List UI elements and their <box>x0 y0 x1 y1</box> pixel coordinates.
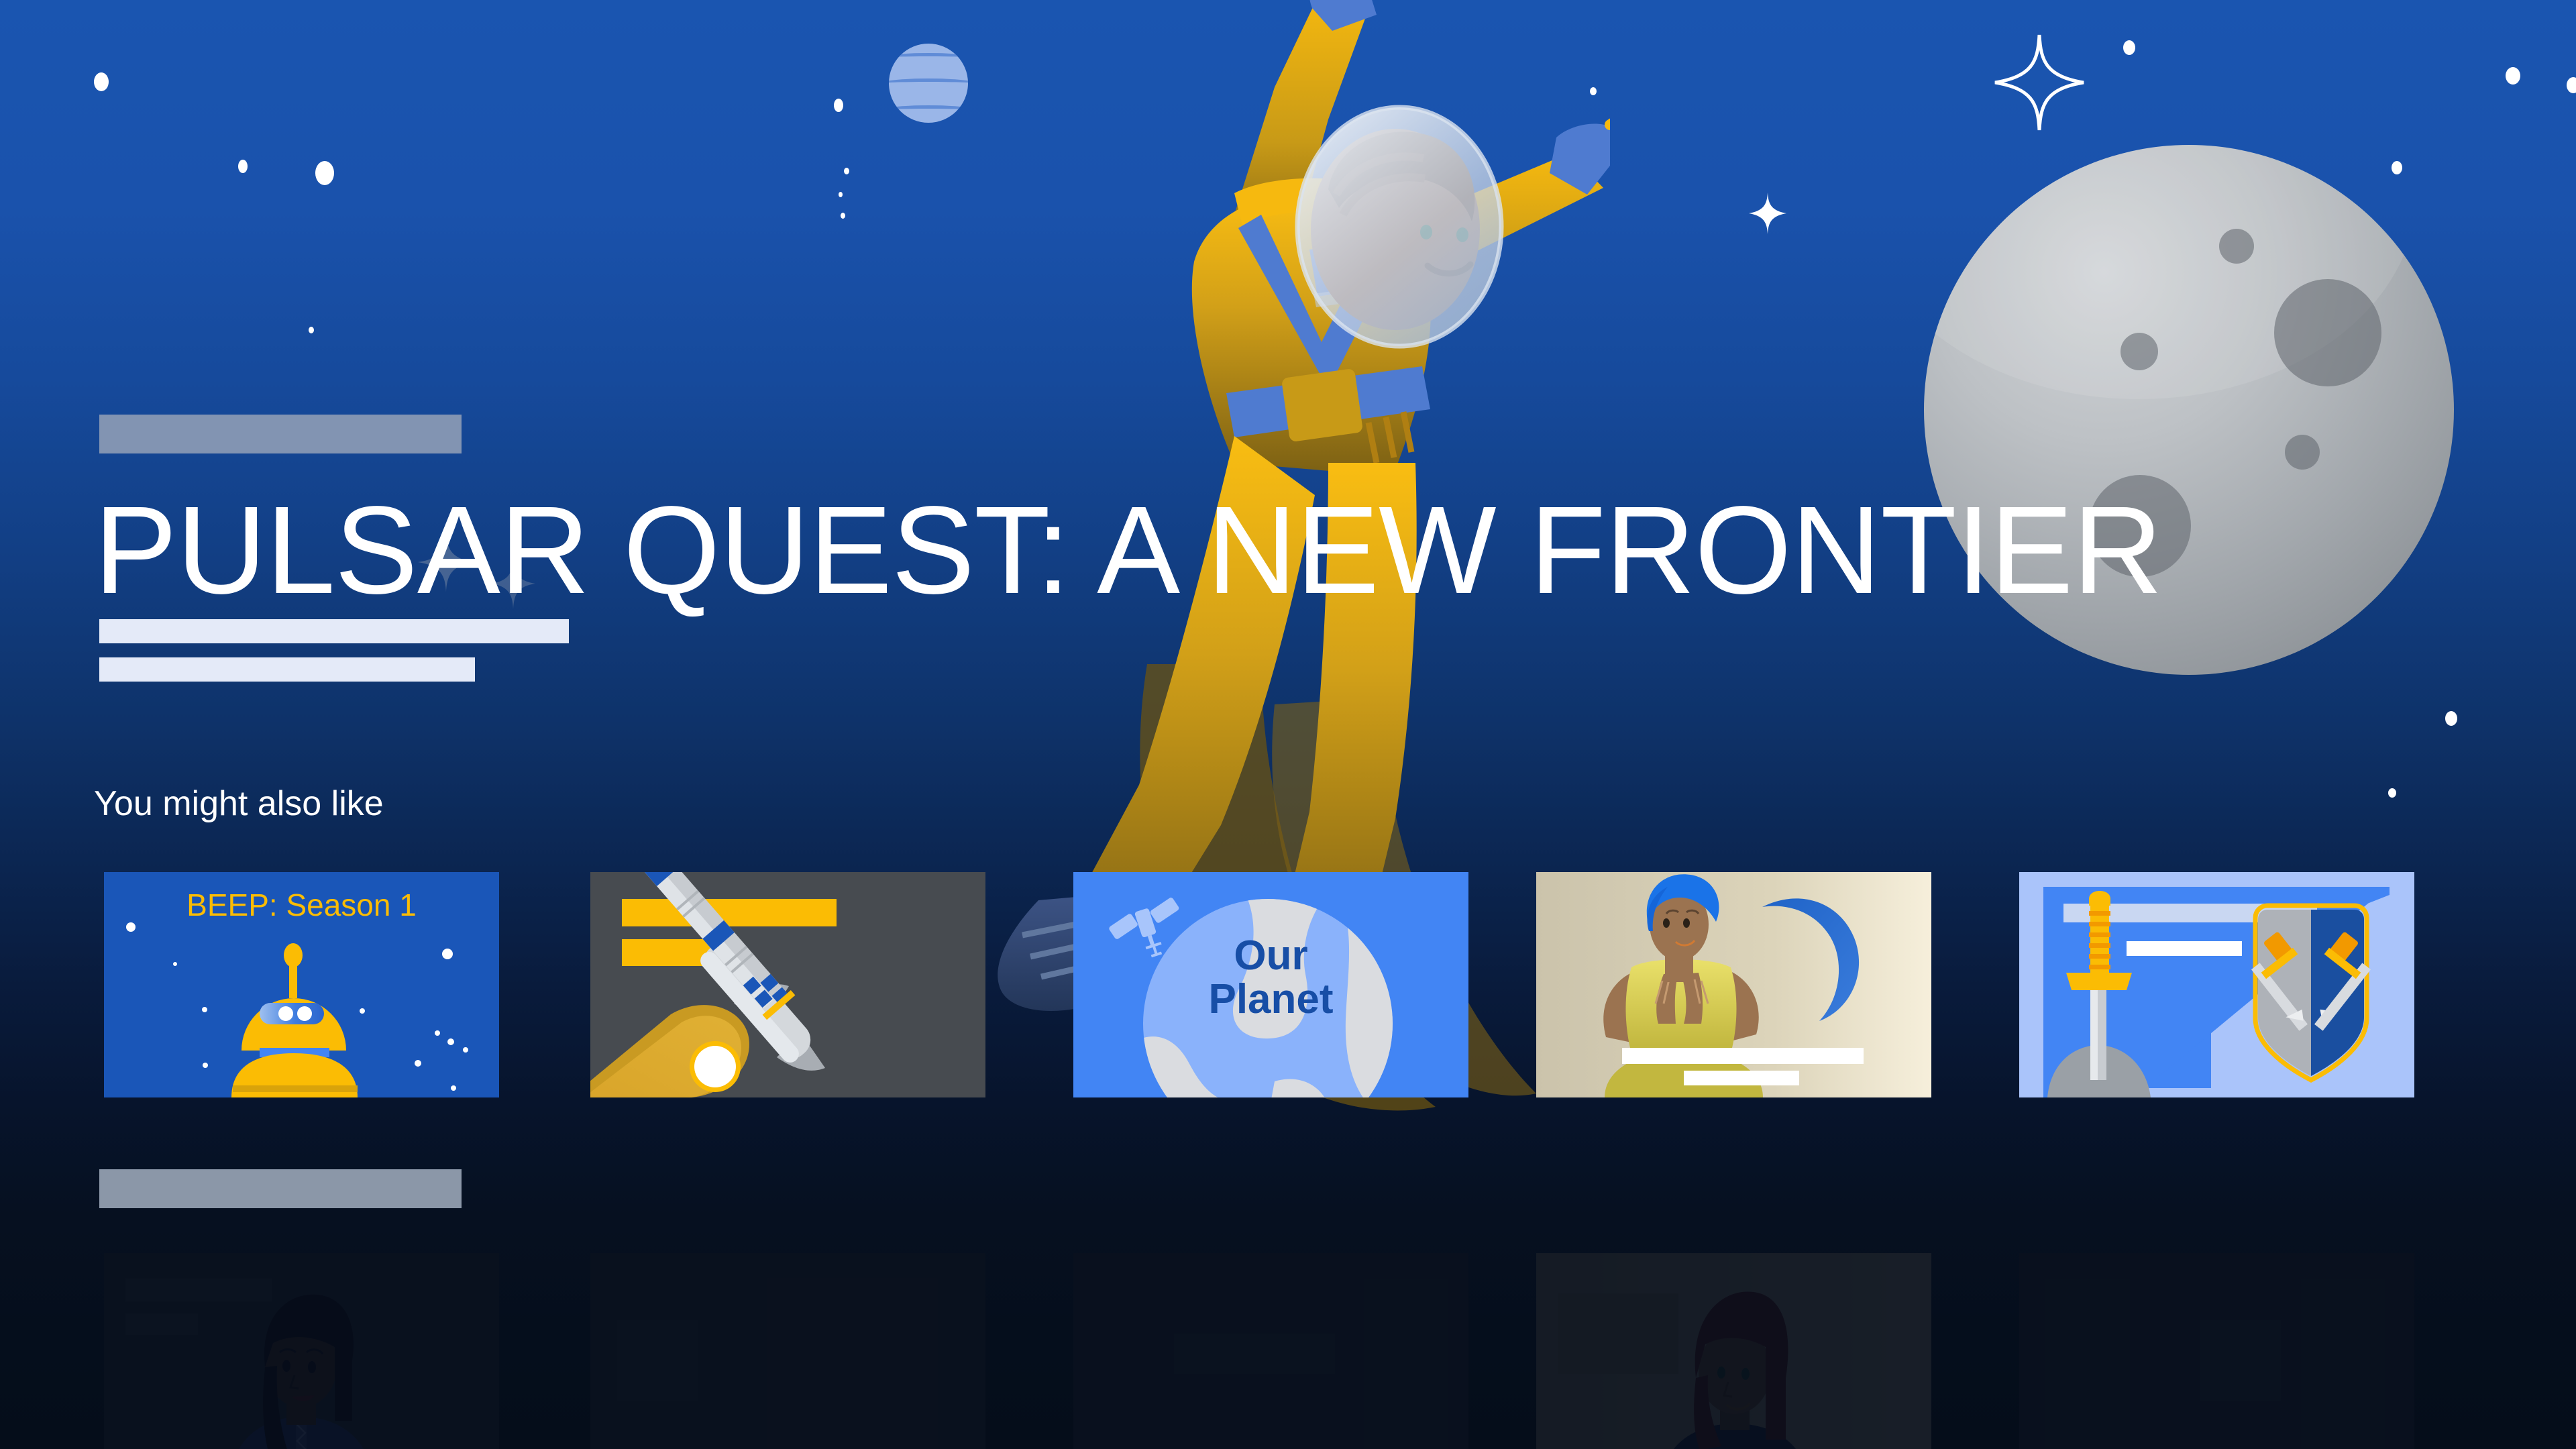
card-row2-1[interactable] <box>104 1253 499 1449</box>
section-title-placeholder-row2 <box>99 1169 462 1208</box>
star <box>2445 711 2457 726</box>
star <box>839 192 843 197</box>
hero-subtitle-placeholder-1 <box>99 619 569 643</box>
sparkle-icon <box>1992 32 2086 133</box>
card-our-planet[interactable]: Our Planet <box>1073 872 1468 1097</box>
card-dim-overlay <box>104 1253 499 1449</box>
section-title-you-might-also-like: You might also like <box>94 784 384 824</box>
card-thumbnail <box>2019 872 2414 1097</box>
card-dim-overlay <box>1073 1253 1468 1449</box>
card-beep-season-1[interactable]: BEEP: Season 1 <box>104 872 499 1097</box>
card-meditation[interactable] <box>1536 872 1931 1097</box>
star <box>844 168 849 174</box>
card-row2-4[interactable] <box>1536 1253 1931 1449</box>
star <box>238 160 248 173</box>
star <box>841 213 845 219</box>
card-dim-overlay <box>2019 1253 2414 1449</box>
hero-eyebrow-placeholder <box>99 415 462 453</box>
sparkle-icon <box>1748 191 1788 235</box>
moon-crater <box>2285 435 2320 470</box>
card-overlay-title: BEEP: Season 1 <box>104 887 499 923</box>
card-thumbnail <box>590 872 985 1097</box>
moon-crater <box>2219 229 2254 264</box>
star <box>2388 788 2396 798</box>
card-row2-2[interactable] <box>590 1253 985 1449</box>
card-overlay-title: Our Planet <box>1073 934 1468 1021</box>
card-row2-5[interactable] <box>2019 1253 2414 1449</box>
card-dim-overlay <box>590 1253 985 1449</box>
star <box>94 72 109 91</box>
card-row2-3[interactable] <box>1073 1253 1468 1449</box>
star <box>2123 40 2135 55</box>
moon-crater <box>2121 333 2158 370</box>
moon-crater <box>2274 279 2381 386</box>
card-dim-overlay <box>1536 1253 1931 1449</box>
star <box>315 161 334 185</box>
star <box>2506 67 2520 85</box>
hero-subtitle-placeholder-2 <box>99 657 475 682</box>
app-root: PULSAR QUEST: A NEW FRONTIER You might a… <box>0 0 2576 1449</box>
card-sword-and-shield[interactable] <box>2019 872 2414 1097</box>
card-rocket-launch[interactable] <box>590 872 985 1097</box>
star <box>834 99 843 112</box>
star <box>2567 77 2576 93</box>
card-thumbnail <box>1536 872 1931 1097</box>
page-title: PULSAR QUEST: A NEW FRONTIER <box>94 488 2162 613</box>
star <box>309 327 314 333</box>
